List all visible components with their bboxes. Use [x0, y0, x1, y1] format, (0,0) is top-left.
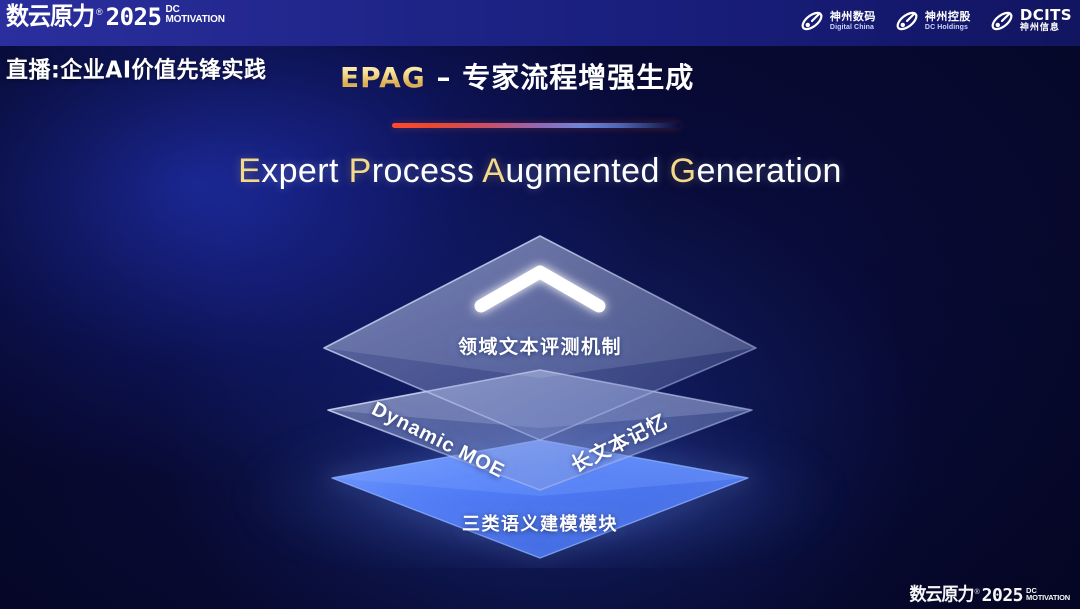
brand-dc: DC — [165, 5, 224, 14]
header-bar: 数云原力 ® 2025 DC MOTIVATION 神州数码 Digital C… — [0, 0, 1080, 46]
partner-dcits[interactable]: DCITS 神州信息 — [989, 8, 1072, 34]
partner-dc-holdings[interactable]: 神州控股 DC Holdings — [894, 8, 971, 34]
watermark-motivation: MOTIVATION — [1026, 594, 1070, 602]
subtitle-part: eneration — [696, 152, 841, 190]
swirl-icon — [894, 8, 920, 34]
brand-cjk: 数云原力 — [6, 3, 94, 31]
partner-name-en: Digital China — [830, 23, 876, 32]
partner-name-en: DC Holdings — [925, 23, 971, 32]
brand-motivation: MOTIVATION — [165, 14, 224, 25]
brand-logo: 数云原力 ® 2025 DC MOTIVATION — [6, 4, 225, 30]
slide-stage: 领域文本评测机制 Dynamic MOE 长文本记忆 三类语义建模模块 数云原力… — [0, 0, 1080, 609]
watermark-year: 2025 — [982, 586, 1023, 605]
subtitle-part: E — [238, 152, 261, 190]
title-acronym: EPAG — [340, 61, 426, 94]
watermark-cjk: 数云原力 — [910, 585, 974, 605]
subtitle-part: P — [349, 152, 372, 190]
layer-top-label: 领域文本评测机制 — [0, 332, 1080, 359]
partner-name-cn: DCITS — [1020, 8, 1072, 23]
subtitle-part: G — [670, 152, 697, 190]
subtitle-part: ugmented — [505, 152, 669, 190]
gradient-divider — [392, 123, 680, 128]
brand-dc-motivation: DC MOTIVATION — [165, 5, 224, 25]
partner-name-cn: 神州数码 — [830, 11, 876, 23]
brand-registered: ® — [96, 6, 103, 18]
subtitle: Expert Process Augmented Generation — [0, 152, 1080, 191]
partner-text: DCITS 神州信息 — [1020, 8, 1072, 34]
watermark-registered: ® — [975, 588, 980, 597]
layer-bottom-label: 三类语义建模模块 — [0, 510, 1080, 536]
page-title: EPAG – 专家流程增强生成 — [340, 56, 694, 96]
subtitle-part: xpert — [261, 152, 348, 190]
partner-digital-china[interactable]: 神州数码 Digital China — [799, 8, 876, 34]
subtitle-part: rocess — [372, 152, 483, 190]
partner-name-cn: 神州控股 — [925, 11, 971, 23]
title-chinese: 专家流程增强生成 — [462, 61, 694, 94]
subtitle-part: A — [482, 152, 505, 190]
swirl-icon — [989, 8, 1015, 34]
live-stream-label: 直播:企业AI价值先锋实践 — [6, 51, 267, 84]
partner-logos: 神州数码 Digital China 神州控股 DC Holdings — [799, 8, 1072, 34]
brand-year: 2025 — [106, 4, 162, 30]
watermark-dc-motivation: DC MOTIVATION — [1026, 587, 1070, 602]
title-dash: – — [426, 61, 463, 94]
watermark-logo: 数云原力 ® 2025 DC MOTIVATION — [910, 586, 1071, 605]
swirl-icon — [799, 8, 825, 34]
partner-name-en: 神州信息 — [1020, 23, 1072, 34]
partner-text: 神州数码 Digital China — [830, 11, 876, 32]
partner-text: 神州控股 DC Holdings — [925, 11, 971, 32]
